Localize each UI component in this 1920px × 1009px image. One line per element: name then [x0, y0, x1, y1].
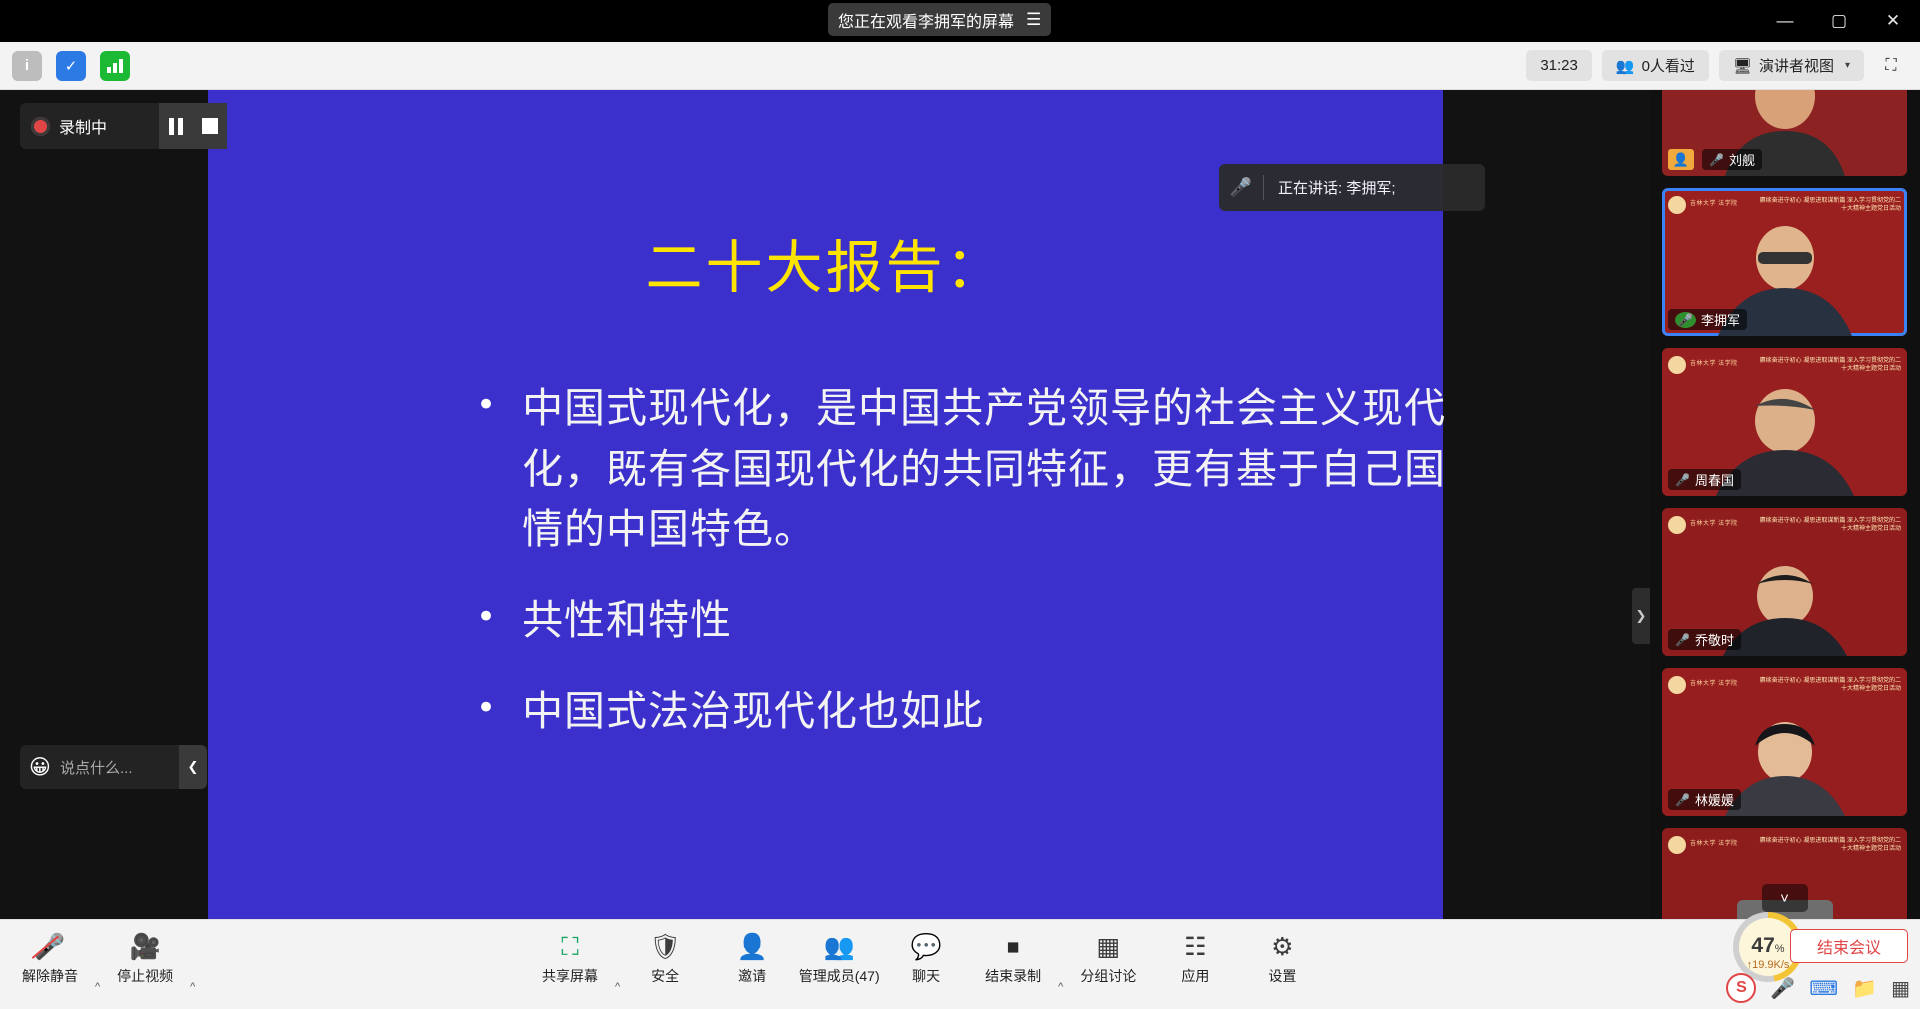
crest-icon: [1668, 676, 1686, 694]
grid-tray-icon[interactable]: ▦: [1891, 976, 1910, 1001]
invite-icon: 👤: [737, 933, 768, 961]
security-icon: 🛡: [649, 933, 681, 961]
viewers-button[interactable]: 👥 0人看过: [1602, 50, 1709, 81]
network-stats-icon[interactable]: [100, 51, 130, 81]
tile-header: 吉林大学 法学院 赓续奋进守初心 凝思进取谋新篇 深入学习贯彻党的二十大精神主题…: [1662, 668, 1907, 702]
participant-name: 林媛媛: [1695, 790, 1734, 809]
chat-label: 聊天: [912, 966, 940, 986]
screen-icon: 🖥: [1733, 57, 1752, 75]
stop-recording-button[interactable]: [193, 103, 227, 149]
mic-icon: 🎤: [1675, 473, 1690, 487]
breakout-label: 分组讨论: [1080, 966, 1136, 986]
crest-icon: [1668, 356, 1686, 374]
mic-muted-icon: 🎤: [34, 933, 65, 961]
participants-icon: 👥: [824, 933, 855, 961]
video-options-chevron-icon[interactable]: ^: [190, 981, 195, 1003]
stop-video-button[interactable]: 🎥 停止视频: [103, 925, 187, 1003]
viewing-banner[interactable]: 您正在观看李拥军的屏幕 ☰: [828, 3, 1051, 36]
unmute-label: 解除静音: [22, 966, 78, 986]
info-icon[interactable]: i: [12, 51, 42, 81]
participant-filmstrip[interactable]: 吉林大学 法学院 赓续奋进守初心 凝思进取谋新篇 深入学习贯彻党的二十大精神主题…: [1650, 90, 1920, 919]
battery-percent: 47: [1751, 918, 1774, 958]
stop-icon: [202, 118, 218, 134]
participant-tile[interactable]: 吉林大学 法学院 赓续奋进守初心 凝思进取谋新篇 深入学习贯彻党的二十大精神主题…: [1662, 348, 1907, 496]
mic-icon: 🎤: [1675, 793, 1690, 807]
participant-name: 李拥军: [1701, 310, 1740, 329]
crest-icon: [1668, 836, 1686, 854]
keyboard-tray-icon[interactable]: ⌨: [1809, 976, 1838, 1001]
participant-name: 周春国: [1695, 470, 1734, 489]
unmute-button[interactable]: 🎤 解除静音: [8, 925, 92, 1003]
participant-tile[interactable]: 吉林大学 法学院 赓续奋进守初心 凝思进取谋新篇 深入学习贯彻党的二十大精神主题…: [1662, 668, 1907, 816]
tile-slogan: 赓续奋进守初心 凝思进取谋新篇 深入学习贯彻党的二十大精神主题党日活动: [1754, 197, 1901, 213]
view-mode-button[interactable]: 🖥 演讲者视图 ▾: [1719, 50, 1864, 81]
apps-label: 应用: [1181, 966, 1209, 986]
tile-header: 吉林大学 法学院 赓续奋进守初心 凝思进取谋新篇 深入学习贯彻党的二十大精神主题…: [1662, 828, 1907, 862]
record-dot-icon: [31, 117, 50, 136]
folder-tray-icon[interactable]: 📁: [1852, 976, 1877, 1001]
gear-icon: ⚙: [1271, 933, 1293, 961]
university-logo-icon: 吉林大学 法学院: [1668, 674, 1748, 696]
sogou-ime-icon[interactable]: S: [1726, 973, 1756, 1003]
bullet-text: 中国式现代化，是中国共产党领导的社会主义现代化，既有各国现代化的共同特征，更有基…: [522, 378, 1486, 560]
percent-symbol: %: [1775, 943, 1785, 955]
controls-left: 🎤 解除静音 ^ 🎥 停止视频 ^: [8, 925, 195, 1003]
participant-tile[interactable]: 吉林大学 法学院 赓续奋进守初心 凝思进取谋新篇 深入学习贯彻党的二十大精神主题…: [1662, 508, 1907, 656]
chat-input[interactable]: 说点什么...: [60, 757, 179, 778]
university-logo-icon: 吉林大学 法学院: [1668, 194, 1748, 216]
end-meeting-button[interactable]: 结束会议: [1790, 929, 1908, 963]
meeting-timer: 31:23: [1526, 50, 1592, 81]
participant-name-badge: 🎤 周春国: [1668, 469, 1741, 490]
participant-name: 乔敬时: [1695, 630, 1734, 649]
meeting-controls-bar: 🎤 解除静音 ^ 🎥 停止视频 ^ ⛶ 共享屏幕 ^ 🛡 安全 👤 邀请: [0, 919, 1920, 1009]
toolbar-left-icons: i ✓: [0, 51, 130, 81]
university-logo-icon: 吉林大学 法学院: [1668, 834, 1748, 856]
tile-slogan: 赓续奋进守初心 凝思进取谋新篇 深入学习贯彻党的二十大精神主题党日活动: [1754, 357, 1901, 373]
smiley-icon[interactable]: 😀: [20, 755, 60, 780]
list-item: • 共性和特性: [476, 590, 1486, 651]
tile-org: 吉林大学 法学院: [1690, 521, 1738, 529]
bullet-icon: •: [476, 378, 496, 560]
mic-icon: 🎤: [1709, 153, 1724, 167]
chevron-down-icon: ▾: [1845, 60, 1850, 71]
controls-center: ⛶ 共享屏幕 ^ 🛡 安全 👤 邀请 👥 管理成员(47) 💬 聊天 ⏹: [528, 925, 1324, 1003]
bullet-text: 中国式法治现代化也如此: [522, 681, 984, 742]
settings-button[interactable]: ⚙ 设置: [1240, 925, 1324, 1003]
crest-icon: [1668, 516, 1686, 534]
tile-org: 吉林大学 法学院: [1690, 841, 1738, 849]
manage-participants-label: 管理成员(47): [799, 966, 880, 986]
mic-active-icon: 🎤: [1675, 312, 1696, 328]
top-toolbar: i ✓ 31:23 👥 0人看过 🖥 演讲者视图 ▾ ⛶: [0, 42, 1920, 90]
university-logo-icon: 吉林大学 法学院: [1668, 514, 1748, 536]
share-screen-icon: ⛶: [561, 933, 579, 961]
participant-name-badge: 🎤 李拥军: [1668, 309, 1747, 330]
window-controls: — ▢ ✕: [1758, 0, 1920, 42]
minimize-button[interactable]: —: [1758, 0, 1812, 42]
chat-entry-bar[interactable]: 😀 说点什么... ❮: [20, 745, 207, 789]
shared-screen-stage: 二十大报告： • 中国式现代化，是中国共产党领导的社会主义现代化，既有各国现代化…: [0, 90, 1661, 919]
chat-button[interactable]: 💬 聊天: [884, 925, 968, 1003]
toolbar-right-cluster: 31:23 👥 0人看过 🖥 演讲者视图 ▾ ⛶: [1526, 50, 1920, 81]
chat-icon: 💬: [911, 933, 942, 961]
stop-recording-bottom-button[interactable]: ⏹ 结束录制: [971, 925, 1055, 1003]
participant-name-badge: 🎤 林媛媛: [1668, 789, 1741, 810]
security-label: 安全: [651, 966, 679, 986]
speaking-toast: 🎤 正在讲话: 李拥军;: [1219, 164, 1485, 211]
participant-tile[interactable]: 吉林大学 法学院 赓续奋进守初心 凝思进取谋新篇 深入学习贯彻党的二十大精神主题…: [1662, 188, 1907, 336]
tile-header: 吉林大学 法学院 赓续奋进守初心 凝思进取谋新篇 深入学习贯彻党的二十大精神主题…: [1662, 348, 1907, 382]
speaking-toast-text: 正在讲话: 李拥军;: [1264, 177, 1396, 198]
tile-org: 吉林大学 法学院: [1690, 681, 1738, 689]
list-item: • 中国式法治现代化也如此: [476, 681, 1486, 742]
security-button[interactable]: 🛡 安全: [623, 925, 707, 1003]
pause-icon: [169, 118, 183, 135]
view-mode-label: 演讲者视图: [1759, 55, 1834, 76]
list-item: • 中国式现代化，是中国共产党领导的社会主义现代化，既有各国现代化的共同特征，更…: [476, 378, 1486, 560]
system-tray: S 🎤 ⌨ 📁 ▦: [1726, 973, 1910, 1003]
zoom-meeting-window: 您正在观看李拥军的屏幕 ☰ — ▢ ✕ i ✓ 31:23 👥: [0, 0, 1920, 1009]
record-options-chevron-icon[interactable]: ^: [1058, 981, 1063, 1003]
participant-name: 刘舰: [1729, 150, 1755, 169]
presentation-slide: 二十大报告： • 中国式现代化，是中国共产党领导的社会主义现代化，既有各国现代化…: [208, 90, 1443, 919]
list-icon[interactable]: ☰: [1026, 11, 1041, 28]
bullet-icon: •: [476, 681, 496, 742]
recording-label: 录制中: [59, 114, 159, 138]
people-icon: 👥: [1616, 57, 1635, 75]
manage-participants-button[interactable]: 👥 管理成员(47): [797, 925, 881, 1003]
breakout-icon: ▦: [1097, 933, 1121, 961]
mic-icon: 🎤: [1675, 633, 1690, 647]
tile-org: 吉林大学 法学院: [1690, 201, 1738, 209]
record-icon: ⏹: [1007, 933, 1020, 961]
tile-header: 吉林大学 法学院 赓续奋进守初心 凝思进取谋新篇 深入学习贯彻党的二十大精神主题…: [1662, 508, 1907, 542]
bars-glyph: [106, 58, 124, 74]
viewing-banner-text: 您正在观看李拥军的屏幕: [838, 8, 1014, 32]
participant-name-badge: 🎤 乔敬时: [1668, 629, 1741, 650]
stop-recording-label: 结束录制: [985, 966, 1041, 986]
viewers-label: 0人看过: [1642, 55, 1695, 76]
invite-button[interactable]: 👤 邀请: [710, 925, 794, 1003]
audio-options-chevron-icon[interactable]: ^: [95, 981, 100, 1003]
avatar: 👤: [1668, 149, 1694, 170]
share-screen-button[interactable]: ⛶ 共享屏幕: [528, 925, 612, 1003]
chevron-left-icon[interactable]: ❮: [179, 745, 207, 789]
bullet-text: 共性和特性: [522, 590, 732, 651]
share-options-chevron-icon[interactable]: ^: [615, 981, 620, 1003]
invite-label: 邀请: [738, 966, 766, 986]
slide-bullet-list: • 中国式现代化，是中国共产党领导的社会主义现代化，既有各国现代化的共同特征，更…: [476, 378, 1486, 771]
participant-tile[interactable]: 吉林大学 法学院 赓续奋进守初心 凝思进取谋新篇 深入学习贯彻党的二十大精神主题…: [1662, 90, 1907, 176]
settings-label: 设置: [1268, 966, 1296, 986]
apps-button[interactable]: ☷ 应用: [1153, 925, 1237, 1003]
apps-icon: ☷: [1184, 933, 1206, 961]
participant-tile[interactable]: 吉林大学 法学院 赓续奋进守初心 凝思进取谋新篇 深入学习贯彻党的二十大精神主题…: [1662, 828, 1907, 919]
share-screen-label: 共享屏幕: [542, 966, 598, 986]
maximize-button[interactable]: ▢: [1812, 0, 1866, 42]
breakout-rooms-button[interactable]: ▦ 分组讨论: [1066, 925, 1150, 1003]
mic-muted-icon: 🎤: [1219, 177, 1263, 198]
fullscreen-icon[interactable]: ⛶: [1874, 50, 1908, 81]
slide-title: 二十大报告：: [208, 222, 1443, 304]
chevron-down-icon[interactable]: ˅: [1762, 884, 1808, 912]
tile-slogan: 赓续奋进守初心 凝思进取谋新篇 深入学习贯彻党的二十大精神主题党日活动: [1754, 517, 1901, 533]
stop-video-label: 停止视频: [117, 966, 173, 986]
recording-indicator: 录制中: [20, 103, 227, 149]
close-button[interactable]: ✕: [1866, 0, 1920, 42]
tile-slogan: 赓续奋进守初心 凝思进取谋新篇 深入学习贯彻党的二十大精神主题党日活动: [1754, 837, 1901, 853]
university-logo-icon: 吉林大学 法学院: [1668, 354, 1748, 376]
video-icon: 🎥: [130, 933, 161, 961]
tile-header: 吉林大学 法学院 赓续奋进守初心 凝思进取谋新篇 深入学习贯彻党的二十大精神主题…: [1662, 188, 1907, 222]
crest-icon: [1668, 196, 1686, 214]
pause-recording-button[interactable]: [159, 103, 193, 149]
mic-tray-icon[interactable]: 🎤: [1770, 976, 1795, 1001]
participant-name-badge: 🎤 刘舰: [1702, 149, 1762, 170]
tile-org: 吉林大学 法学院: [1690, 361, 1738, 369]
title-bar: 您正在观看李拥军的屏幕 ☰ — ▢ ✕: [0, 0, 1920, 42]
bullet-icon: •: [476, 590, 496, 651]
tile-slogan: 赓续奋进守初心 凝思进取谋新篇 深入学习贯彻党的二十大精神主题党日活动: [1754, 677, 1901, 693]
chevron-right-icon[interactable]: ❯: [1632, 588, 1650, 644]
shield-icon[interactable]: ✓: [56, 51, 86, 81]
